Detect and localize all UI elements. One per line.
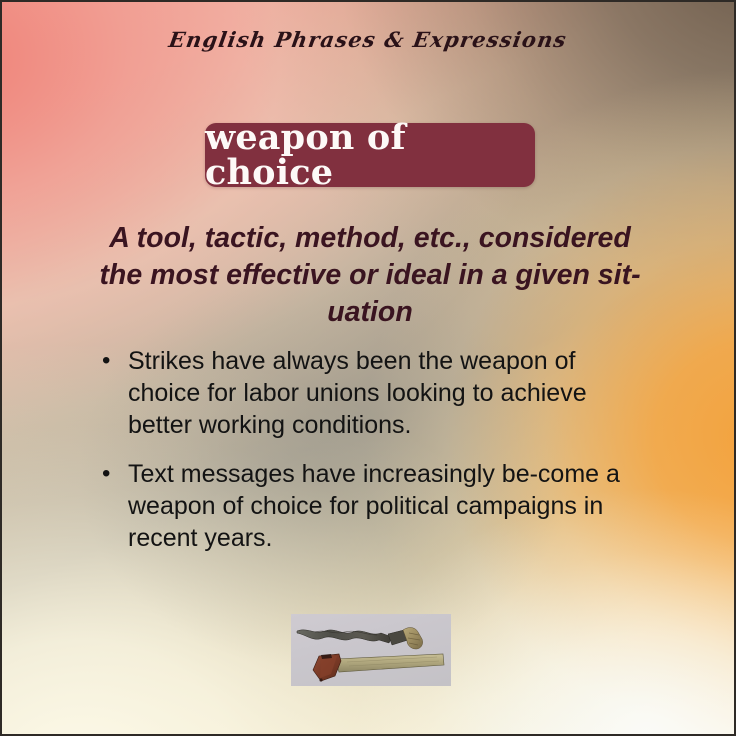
list-item: • Strikes have always been the weapon of…: [102, 346, 622, 441]
list-item: • Text messages have increasingly be-com…: [102, 459, 622, 554]
phrase-term-label: weapon of choice: [205, 120, 535, 190]
example-sentences-list: • Strikes have always been the weapon of…: [102, 346, 622, 573]
example-sentence-text: Strikes have always been the weapon of c…: [128, 346, 622, 441]
phrase-card: English Phrases & Expressions weapon of …: [0, 0, 736, 736]
bullet-icon: •: [102, 459, 128, 489]
example-sentence-text: Text messages have increasingly be-come …: [128, 459, 622, 554]
page-title: English Phrases & Expressions: [0, 27, 736, 52]
phrase-definition: A tool, tactic, method, etc., considered…: [90, 220, 650, 330]
kris-dagger-icon: [291, 614, 451, 686]
phrase-term-badge: weapon of choice: [205, 123, 535, 187]
bullet-icon: •: [102, 346, 128, 376]
